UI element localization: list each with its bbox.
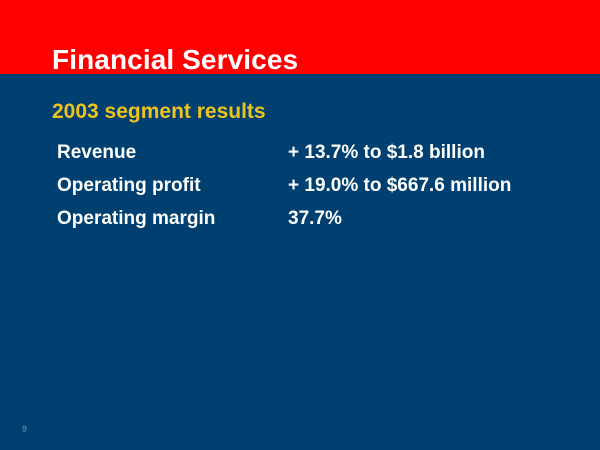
result-label-revenue: Revenue	[57, 136, 288, 169]
table-row: Revenue + 13.7% to $1.8 billion	[57, 136, 577, 169]
result-value-revenue: + 13.7% to $1.8 billion	[288, 136, 577, 169]
result-value-operating-profit: + 19.0% to $667.6 million	[288, 169, 577, 202]
page-number: 9	[22, 424, 27, 435]
table-row: Operating margin 37.7%	[57, 202, 577, 235]
page-title: Financial Services	[52, 44, 298, 76]
slide-subtitle: 2003 segment results	[52, 99, 266, 124]
result-label-operating-profit: Operating profit	[57, 169, 288, 202]
segment-results-table: Revenue + 13.7% to $1.8 billion Operatin…	[57, 136, 577, 235]
result-value-operating-margin: 37.7%	[288, 202, 577, 235]
result-label-operating-margin: Operating margin	[57, 202, 288, 235]
table-row: Operating profit + 19.0% to $667.6 milli…	[57, 169, 577, 202]
presentation-slide: Financial Services 2003 segment results …	[0, 0, 600, 450]
